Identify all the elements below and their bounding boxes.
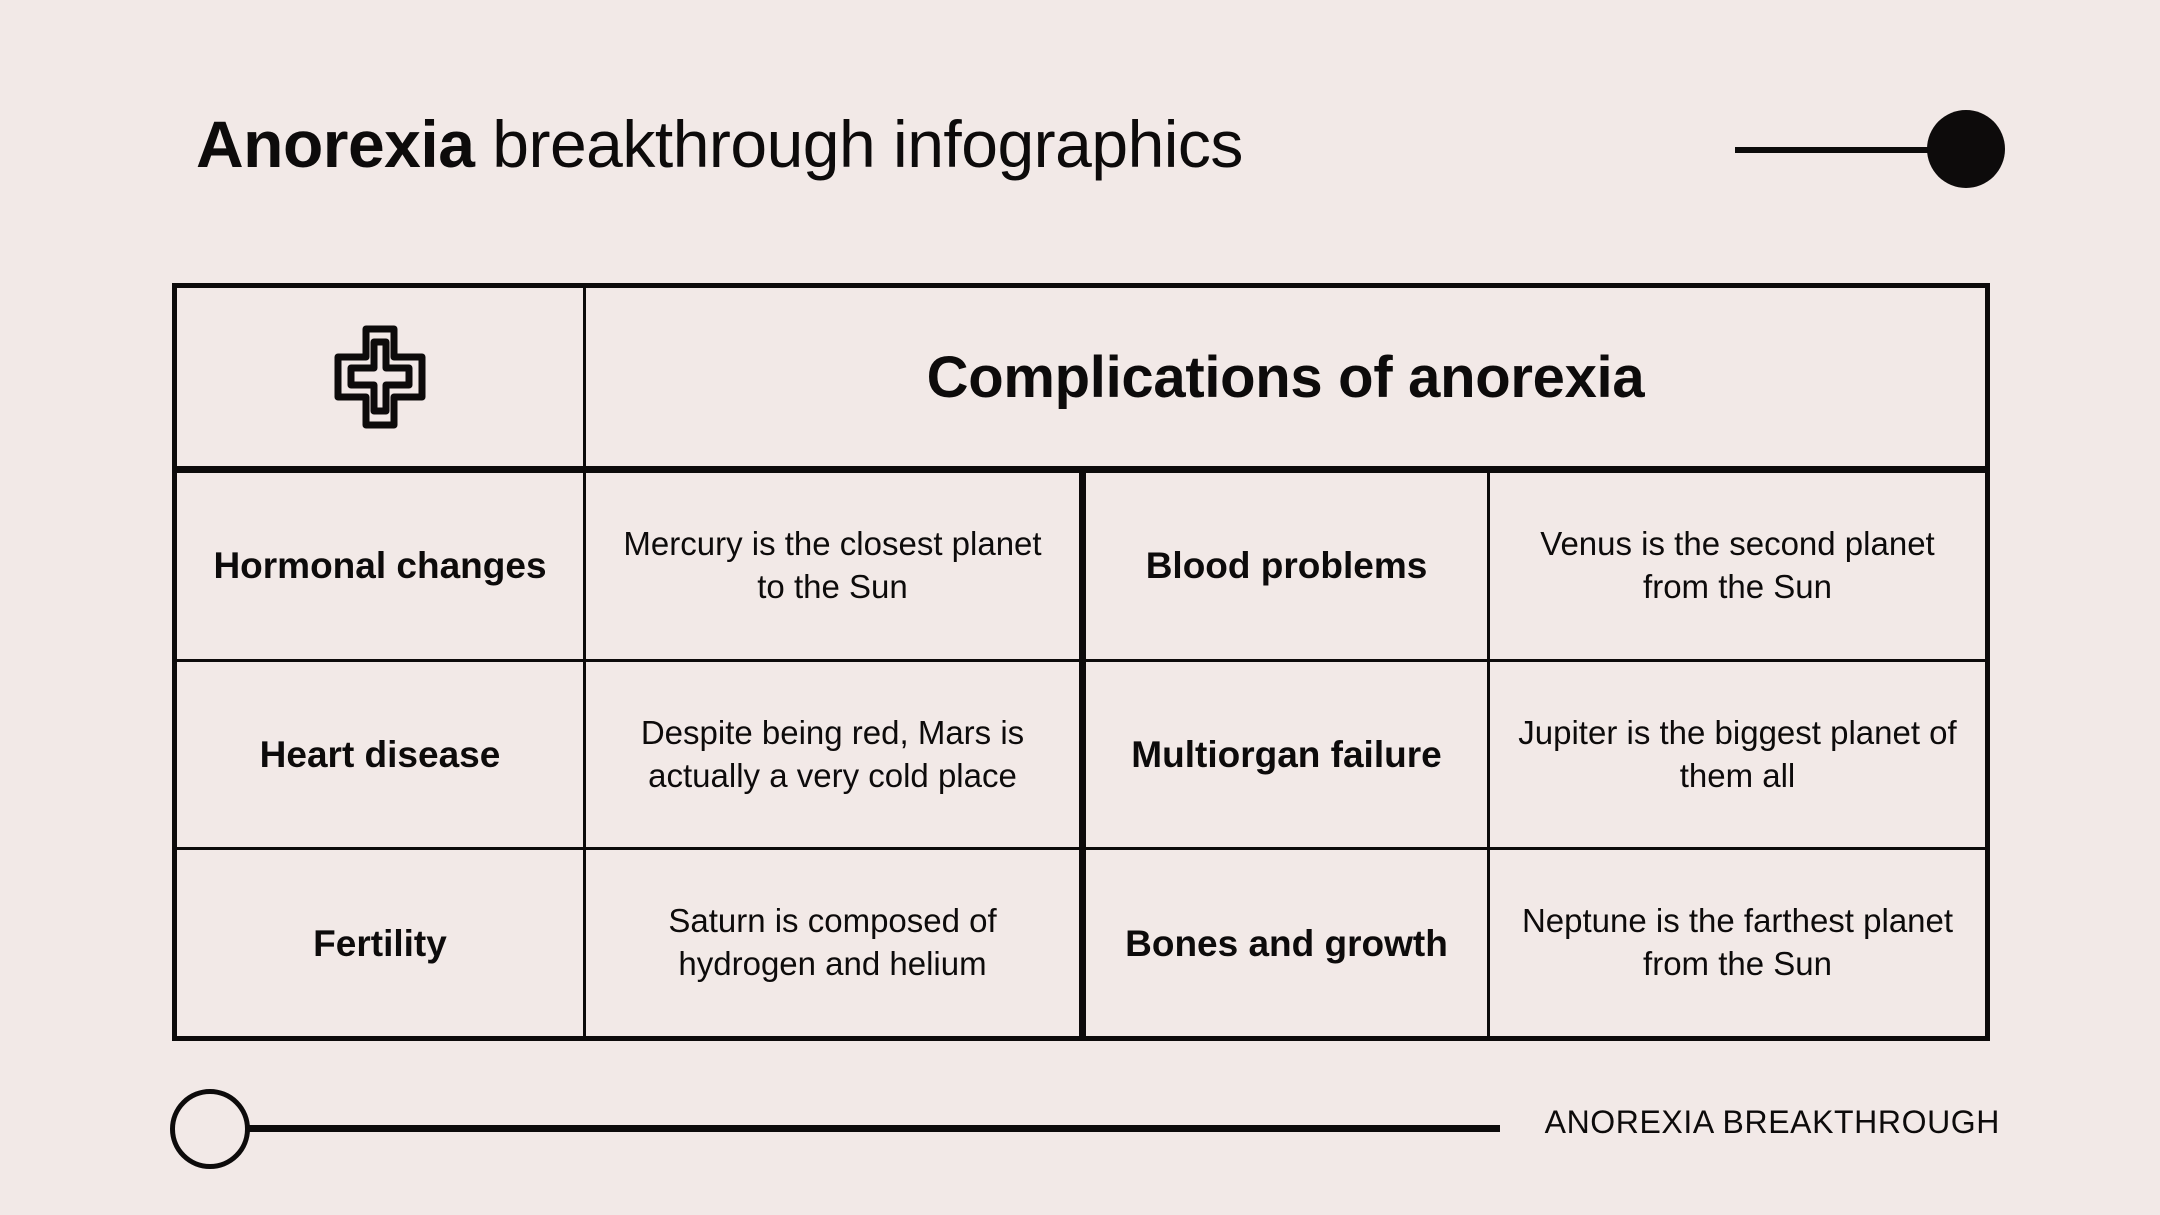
slide-header: Anorexia breakthrough infographics	[0, 96, 2160, 206]
slide-canvas: Anorexia breakthrough infographics Compl…	[0, 0, 2160, 1215]
table-row: Hormonal changes Mercury is the closest …	[177, 473, 1985, 662]
page-title-strong: Anorexia	[196, 107, 474, 181]
row-desc-left: Mercury is the closest planet to the Sun	[586, 473, 1086, 659]
table-header-title-cell: Complications of anorexia	[586, 288, 1985, 466]
row-desc-left: Despite being red, Mars is actually a ve…	[586, 662, 1086, 848]
medical-cross-icon	[326, 323, 434, 431]
header-line-icon	[1735, 147, 1945, 153]
row-label-right: Bones and growth	[1086, 850, 1490, 1036]
page-title: Anorexia breakthrough infographics	[196, 96, 1243, 192]
row-desc-right: Jupiter is the biggest planet of them al…	[1490, 662, 1985, 848]
row-desc-left: Saturn is composed of hydrogen and heliu…	[586, 850, 1086, 1036]
row-desc-right: Venus is the second planet from the Sun	[1490, 473, 1985, 659]
header-filled-circle-icon	[1927, 110, 2005, 188]
page-title-rest: breakthrough infographics	[474, 107, 1243, 181]
slide-footer: ANOREXIA BREAKTHROUGH	[0, 1088, 2160, 1182]
footer-line-icon	[248, 1125, 1500, 1132]
table-row: Fertility Saturn is composed of hydrogen…	[177, 850, 1985, 1036]
footer-label: ANOREXIA BREAKTHROUGH	[1545, 1104, 2000, 1141]
row-label-left: Fertility	[177, 850, 586, 1036]
row-label-left: Heart disease	[177, 662, 586, 848]
footer-outline-circle-icon	[170, 1089, 250, 1169]
row-label-right: Blood problems	[1086, 473, 1490, 659]
row-label-right: Multiorgan failure	[1086, 662, 1490, 848]
table-heading: Complications of anorexia	[927, 344, 1645, 411]
complications-table: Complications of anorexia Hormonal chang…	[172, 283, 1990, 1041]
row-desc-right: Neptune is the farthest planet from the …	[1490, 850, 1985, 1036]
header-decoration	[1735, 110, 2005, 190]
row-label-left: Hormonal changes	[177, 473, 586, 659]
table-header-icon-cell	[177, 288, 586, 466]
table-row: Heart disease Despite being red, Mars is…	[177, 662, 1985, 851]
table-header-row: Complications of anorexia	[177, 288, 1985, 473]
